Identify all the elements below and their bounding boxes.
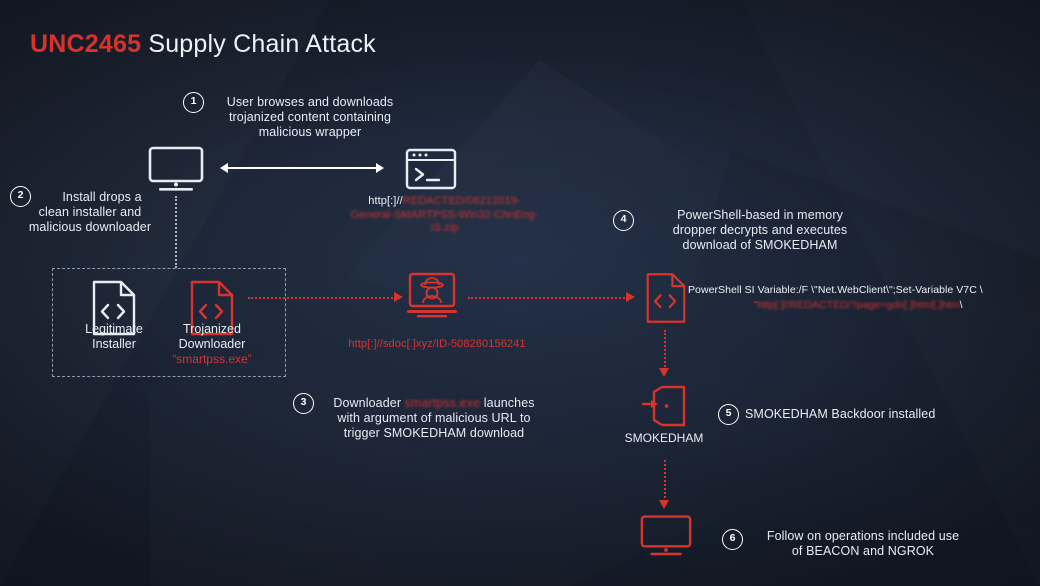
step-3-filename: smartpss.exe (405, 396, 481, 410)
connector-backdoor-arrow (659, 368, 669, 377)
title-threat-actor: UNC2465 (30, 30, 141, 58)
page-title: UNC2465 Supply Chain Attack (30, 30, 376, 59)
desktop-monitor-icon (148, 146, 204, 194)
connector-arrow-right (376, 163, 384, 173)
hacker-laptop-icon (405, 272, 459, 322)
title-rest: Supply Chain Attack (141, 30, 376, 58)
backdoor-door-icon (640, 384, 690, 428)
connector-hacker-to-powershell (468, 297, 628, 299)
step-3-badge: 3 (293, 393, 314, 414)
connector-arrow-left (220, 163, 228, 173)
step-1-text: User browses and downloads trojanized co… (210, 95, 410, 140)
step-1-badge: 1 (183, 92, 204, 113)
connector-victim-arrow (659, 500, 669, 509)
connector-trojan-arrow (394, 292, 403, 302)
step-2-text: Install drops a clean installer and mali… (20, 190, 160, 235)
step-6-text: Follow on operations included use of BEA… (748, 529, 978, 559)
compromised-desktop-icon (640, 514, 692, 560)
step-6-badge: 6 (722, 529, 743, 550)
download-url-prefix: http[:]// (368, 195, 403, 207)
powershell-redacted-url: http[:]//REDACTED/?page=gdn[.]html[.]htm (757, 299, 959, 311)
connector-user-to-site (228, 167, 378, 169)
step-4-badge: 4 (613, 210, 634, 231)
smokedham-download-url: http[:]//sdoc[.]xyz/ID-508260156241 (312, 338, 562, 352)
download-url: http[:]//REDACTED/06212019- General-SMAR… (322, 195, 567, 236)
powershell-command-line1: PowerShell SI Variable:/F \"Net.WebClien… (688, 283, 1028, 298)
step-3-text: Downloader smartpss.exe launches with ar… (318, 396, 550, 441)
step-5-text: SMOKEDHAM Backdoor installed (745, 407, 1005, 422)
download-url-line2: General-SMARTPSS-Win32-ChnEng- (322, 209, 567, 223)
step-4-text: PowerShell-based in memory dropper decry… (640, 208, 880, 253)
legitimate-installer-label: Legitimate Installer (62, 322, 166, 352)
connector-powershell-to-backdoor (664, 330, 666, 370)
powershell-code-file-icon (645, 272, 687, 324)
download-url-redacted: REDACTED/06212019- (403, 195, 521, 207)
trojanized-filename: “smartpss.exe” (160, 352, 264, 367)
step-3-pre: Downloader (333, 396, 404, 410)
connector-powershell-arrow (626, 292, 635, 302)
download-url-line3: IS.zip (322, 222, 567, 236)
connector-trojan-to-hacker (248, 297, 396, 299)
step-5-badge: 5 (718, 404, 739, 425)
powershell-line2-tail: \ (960, 299, 963, 311)
step-3-post: launches (480, 396, 534, 410)
connector-backdoor-to-victim (664, 460, 666, 502)
trojanized-downloader-label: Trojanized Downloader “smartpss.exe” (160, 322, 264, 367)
smokedham-label: SMOKEDHAM (608, 431, 720, 446)
powershell-command: PowerShell SI Variable:/F \"Net.WebClien… (688, 283, 1028, 313)
browser-terminal-window-icon (405, 148, 457, 190)
connector-install-drop (175, 196, 177, 268)
